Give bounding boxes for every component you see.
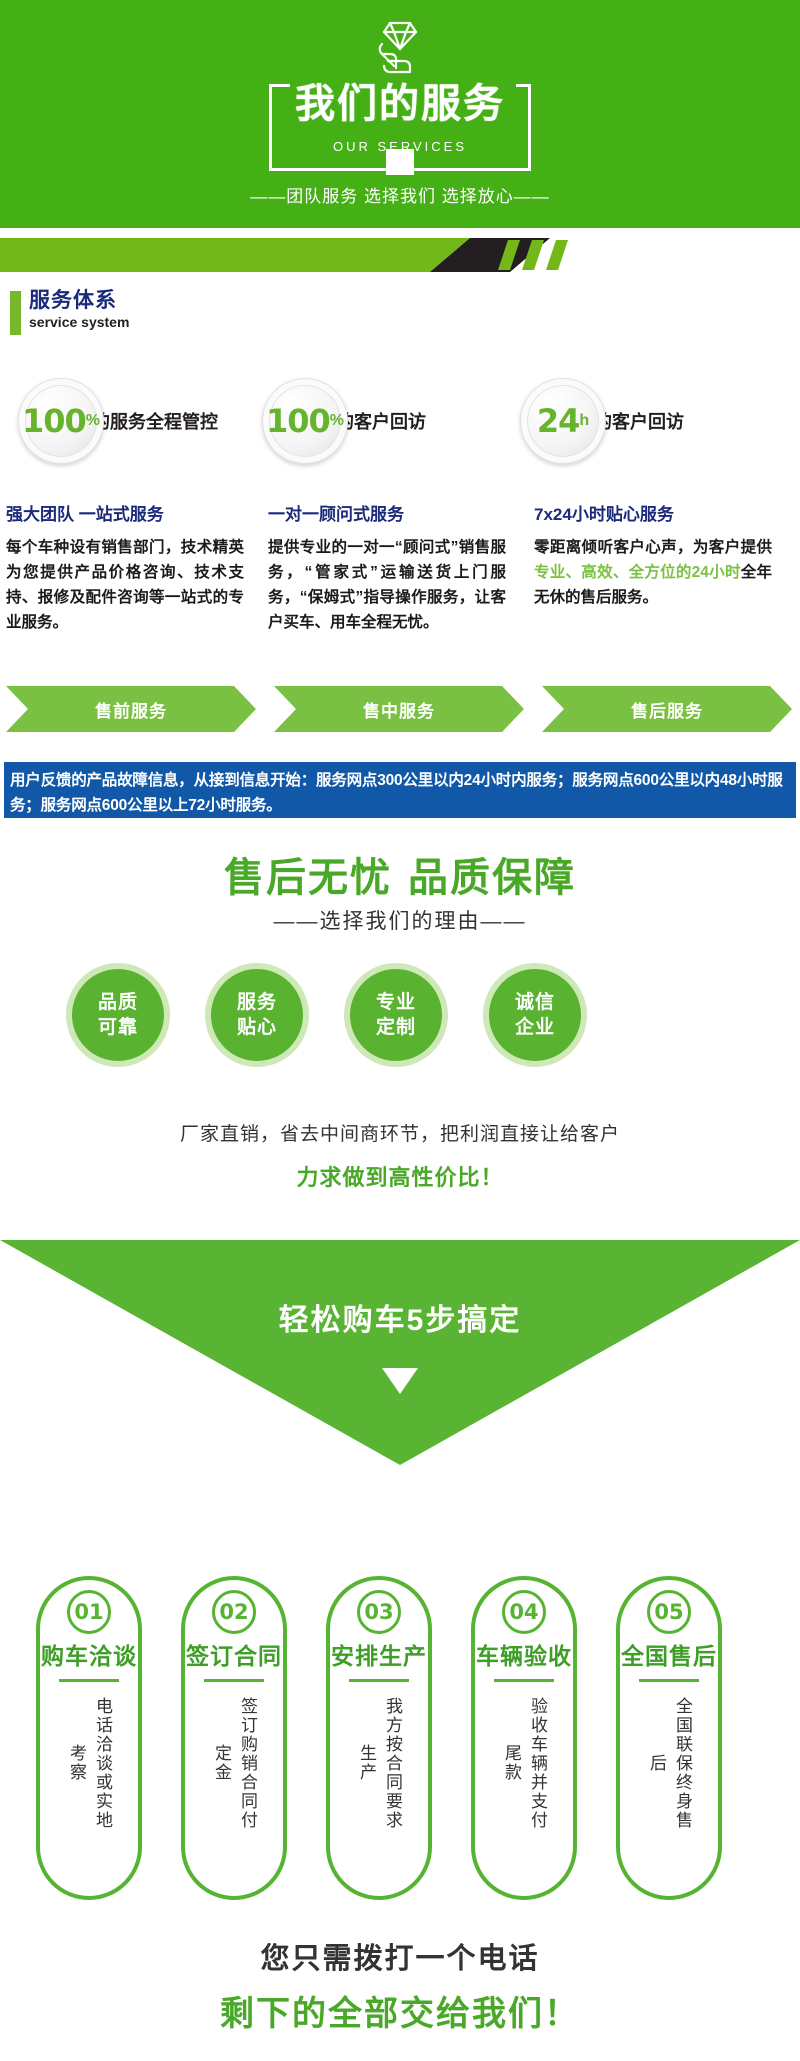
section-accent-bar bbox=[10, 291, 21, 335]
step-description: 全国联保终身售后 bbox=[643, 1688, 695, 1838]
quality-circle: 品质 可靠 bbox=[66, 963, 170, 1067]
badge-unit: % bbox=[330, 412, 344, 430]
section-label-service-system: 服务体系 service system bbox=[10, 288, 129, 335]
service-stage-arrows: 售前服务 售中服务 售后服务 bbox=[0, 686, 800, 732]
step-title: 车辆验收 bbox=[476, 1642, 572, 1671]
step-description: 验收车辆并支付尾款 bbox=[498, 1688, 550, 1838]
divider-green-bar bbox=[0, 238, 470, 272]
step-title: 购车洽谈 bbox=[41, 1642, 137, 1671]
quality-heading: 售后无忧 品质保障 bbox=[0, 845, 800, 903]
badge-unit: % bbox=[86, 412, 100, 430]
arrow-tab-during-sales[interactable]: 售中服务 bbox=[274, 686, 524, 732]
quality-circle: 诚信 企业 bbox=[483, 963, 587, 1067]
quality-line1: 品质 bbox=[98, 990, 138, 1015]
diagonal-divider bbox=[0, 232, 800, 274]
badge-number: 24 bbox=[537, 402, 580, 440]
step-title: 签订合同 bbox=[186, 1642, 282, 1671]
footer-line2: 剩下的全部交给我们！ bbox=[0, 1986, 800, 2035]
frame-notch-bottom bbox=[386, 149, 414, 175]
step-divider bbox=[639, 1679, 699, 1682]
divider-slash-3 bbox=[546, 240, 568, 270]
quality-line2: 可靠 bbox=[98, 1015, 138, 1040]
step-number: 04 bbox=[502, 1590, 546, 1634]
quality-circle: 专业 定制 bbox=[344, 963, 448, 1067]
footer-line1: 您只需拨打一个电话 bbox=[0, 1935, 800, 1977]
feature-body: 零距离倾听客户心声，为客户提供专业、高效、全方位的24小时全年无休的售后服务。 bbox=[534, 535, 772, 610]
hero-banner: 我们的服务 OUR SERVICES ——团队服务 选择我们 选择放心—— bbox=[0, 0, 800, 228]
quality-line2: 企业 bbox=[515, 1015, 555, 1040]
badge-number: 100 bbox=[22, 402, 86, 440]
badge-disc-icon: 24h bbox=[520, 378, 606, 464]
quality-line2: 定制 bbox=[376, 1015, 416, 1040]
feature-column: 7x24小时贴心服务 零距离倾听客户心声，为客户提供专业、高效、全方位的24小时… bbox=[534, 500, 772, 610]
step-number: 03 bbox=[357, 1590, 401, 1634]
feature-body-highlight: 专业、高效、全方位的24小时 bbox=[534, 564, 741, 581]
feature-column: 强大团队 一站式服务 每个车种设有销售部门，技术精英为您提供产品价格咨询、技术支… bbox=[6, 500, 244, 635]
page-title: 我们的服务 bbox=[272, 75, 528, 133]
quality-line1: 服务 bbox=[237, 990, 277, 1015]
badge-label: 的客户回访 bbox=[594, 408, 684, 434]
direct-sales-line2: 力求做到高性价比！ bbox=[0, 1160, 800, 1192]
step-divider bbox=[349, 1679, 409, 1682]
step-pill[interactable]: 01 购车洽谈 电话洽谈或实地考察 bbox=[36, 1576, 142, 1900]
diamond-in-hand-icon bbox=[368, 16, 432, 80]
down-caret-icon bbox=[382, 1368, 418, 1394]
step-description: 我方按合同要求生产 bbox=[353, 1688, 405, 1838]
direct-sales-line1: 厂家直销，省去中间商环节，把利润直接让给客户 bbox=[0, 1119, 800, 1146]
badge-label: 的服务全程管控 bbox=[92, 408, 218, 434]
step-pill[interactable]: 03 安排生产 我方按合同要求生产 bbox=[326, 1576, 432, 1900]
badge-row: 100% 的服务全程管控 100% 的客户回访 24h 的客户回访 bbox=[0, 378, 800, 478]
feature-heading: 7x24小时贴心服务 bbox=[534, 500, 772, 525]
hero-title-frame: 我们的服务 OUR SERVICES bbox=[269, 84, 531, 171]
arrow-tab-pre-sales[interactable]: 售前服务 bbox=[6, 686, 256, 732]
badge-item: 100% 的服务全程管控 bbox=[18, 378, 218, 464]
badge-item: 24h 的客户回访 bbox=[520, 378, 684, 464]
step-description: 签订购销合同付定金 bbox=[208, 1688, 260, 1838]
step-divider bbox=[494, 1679, 554, 1682]
step-number: 02 bbox=[212, 1590, 256, 1634]
step-number: 01 bbox=[67, 1590, 111, 1634]
step-pill[interactable]: 05 全国售后 全国联保终身售后 bbox=[616, 1576, 722, 1900]
badge-disc-icon: 100% bbox=[18, 378, 104, 464]
steps-banner-triangle bbox=[0, 1240, 800, 1465]
quality-line1: 专业 bbox=[376, 990, 416, 1015]
arrow-tab-after-sales[interactable]: 售后服务 bbox=[542, 686, 792, 732]
quality-circle-row: 品质 可靠 服务 贴心 专业 定制 诚信 企业 bbox=[0, 963, 800, 1078]
steps-banner: 轻松购车5步搞定 bbox=[0, 1240, 800, 1465]
badge-number: 100 bbox=[266, 402, 330, 440]
step-number: 05 bbox=[647, 1590, 691, 1634]
steps-banner-title: 轻松购车5步搞定 bbox=[0, 1295, 800, 1339]
step-divider bbox=[59, 1679, 119, 1682]
purchase-steps-row: 01 购车洽谈 电话洽谈或实地考察 02 签订合同 签订购销合同付定金 03 安… bbox=[0, 1576, 800, 1906]
step-pill[interactable]: 04 车辆验收 验收车辆并支付尾款 bbox=[471, 1576, 577, 1900]
feature-body: 每个车种设有销售部门，技术精英为您提供产品价格咨询、技术支持、报修及配件咨询等一… bbox=[6, 535, 244, 635]
section-label-en: service system bbox=[29, 313, 129, 331]
feature-body-pre: 零距离倾听客户心声，为客户提供 bbox=[534, 539, 772, 556]
feature-column: 一对一顾问式服务 提供专业的一对一“顾问式”销售服务，“管家式”运输送货上门服务… bbox=[268, 500, 506, 635]
badge-label: 的客户回访 bbox=[336, 408, 426, 434]
step-title: 全国售后 bbox=[621, 1642, 717, 1671]
badge-item: 100% 的客户回访 bbox=[262, 378, 426, 464]
step-title: 安排生产 bbox=[331, 1642, 427, 1671]
feature-heading: 强大团队 一站式服务 bbox=[6, 500, 244, 525]
step-description: 电话洽谈或实地考察 bbox=[63, 1688, 115, 1838]
feature-heading: 一对一顾问式服务 bbox=[268, 500, 506, 525]
quality-line2: 贴心 bbox=[237, 1015, 277, 1040]
step-pill[interactable]: 02 签订合同 签订购销合同付定金 bbox=[181, 1576, 287, 1900]
service-notice-banner: 用户反馈的产品故障信息，从接到信息开始：服务网点300公里以内24小时内服务；服… bbox=[4, 762, 796, 818]
hero-tagline: ——团队服务 选择我们 选择放心—— bbox=[0, 182, 800, 207]
quality-circle: 服务 贴心 bbox=[205, 963, 309, 1067]
badge-disc-icon: 100% bbox=[262, 378, 348, 464]
feature-body: 提供专业的一对一“顾问式”销售服务，“管家式”运输送货上门服务，“保姆式”指导操… bbox=[268, 535, 506, 635]
step-divider bbox=[204, 1679, 264, 1682]
quality-subheading: ——选择我们的理由—— bbox=[0, 905, 800, 935]
quality-line1: 诚信 bbox=[515, 990, 555, 1015]
section-label-cn: 服务体系 bbox=[29, 288, 129, 313]
badge-unit: h bbox=[579, 412, 589, 430]
